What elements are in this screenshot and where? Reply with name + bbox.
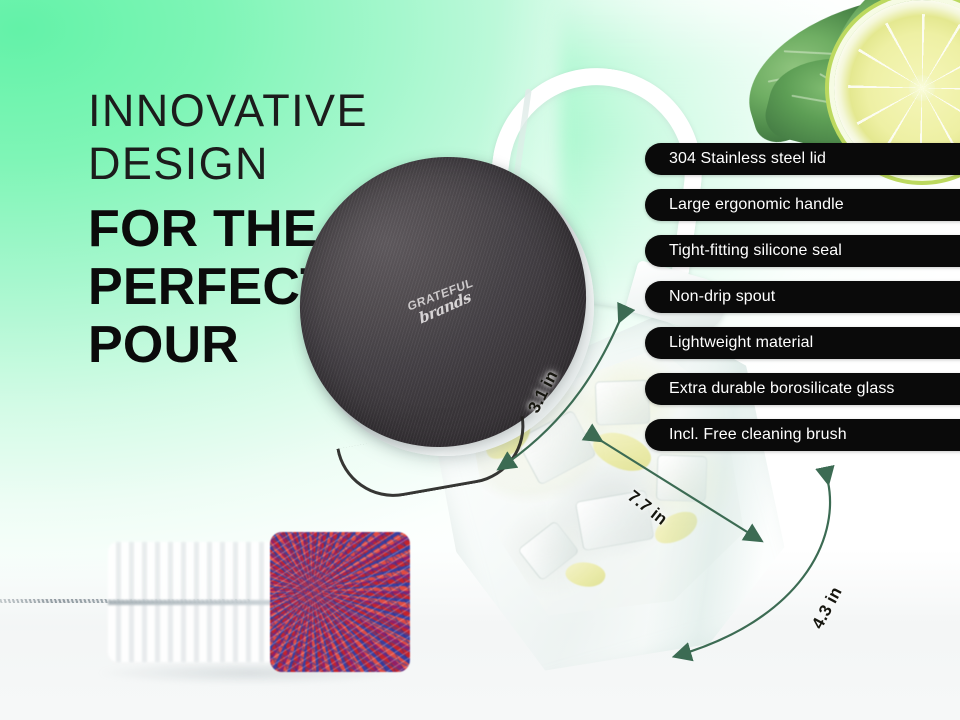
brush-colored-bristles <box>270 532 410 672</box>
brush-white-bristles <box>108 542 278 662</box>
infographic-canvas: INNOVATIVE DESIGN FOR THE PERFECT POUR <box>0 0 960 720</box>
feature-pill-borosilicate-glass: Extra durable borosilicate glass <box>645 373 960 405</box>
feature-pill-silicone-seal: Tight-fitting silicone seal <box>645 235 960 267</box>
feature-pill-free-cleaning-brush: Incl. Free cleaning brush <box>645 419 960 451</box>
feature-pill-stainless-steel-lid: 304 Stainless steel lid <box>645 143 960 175</box>
feature-pill-non-drip-spout: Non-drip spout <box>645 281 960 313</box>
feature-list: 304 Stainless steel lid Large ergonomic … <box>645 143 960 465</box>
cleaning-brush <box>0 520 410 695</box>
feature-pill-ergonomic-handle: Large ergonomic handle <box>645 189 960 221</box>
feature-pill-lightweight-material: Lightweight material <box>645 327 960 359</box>
